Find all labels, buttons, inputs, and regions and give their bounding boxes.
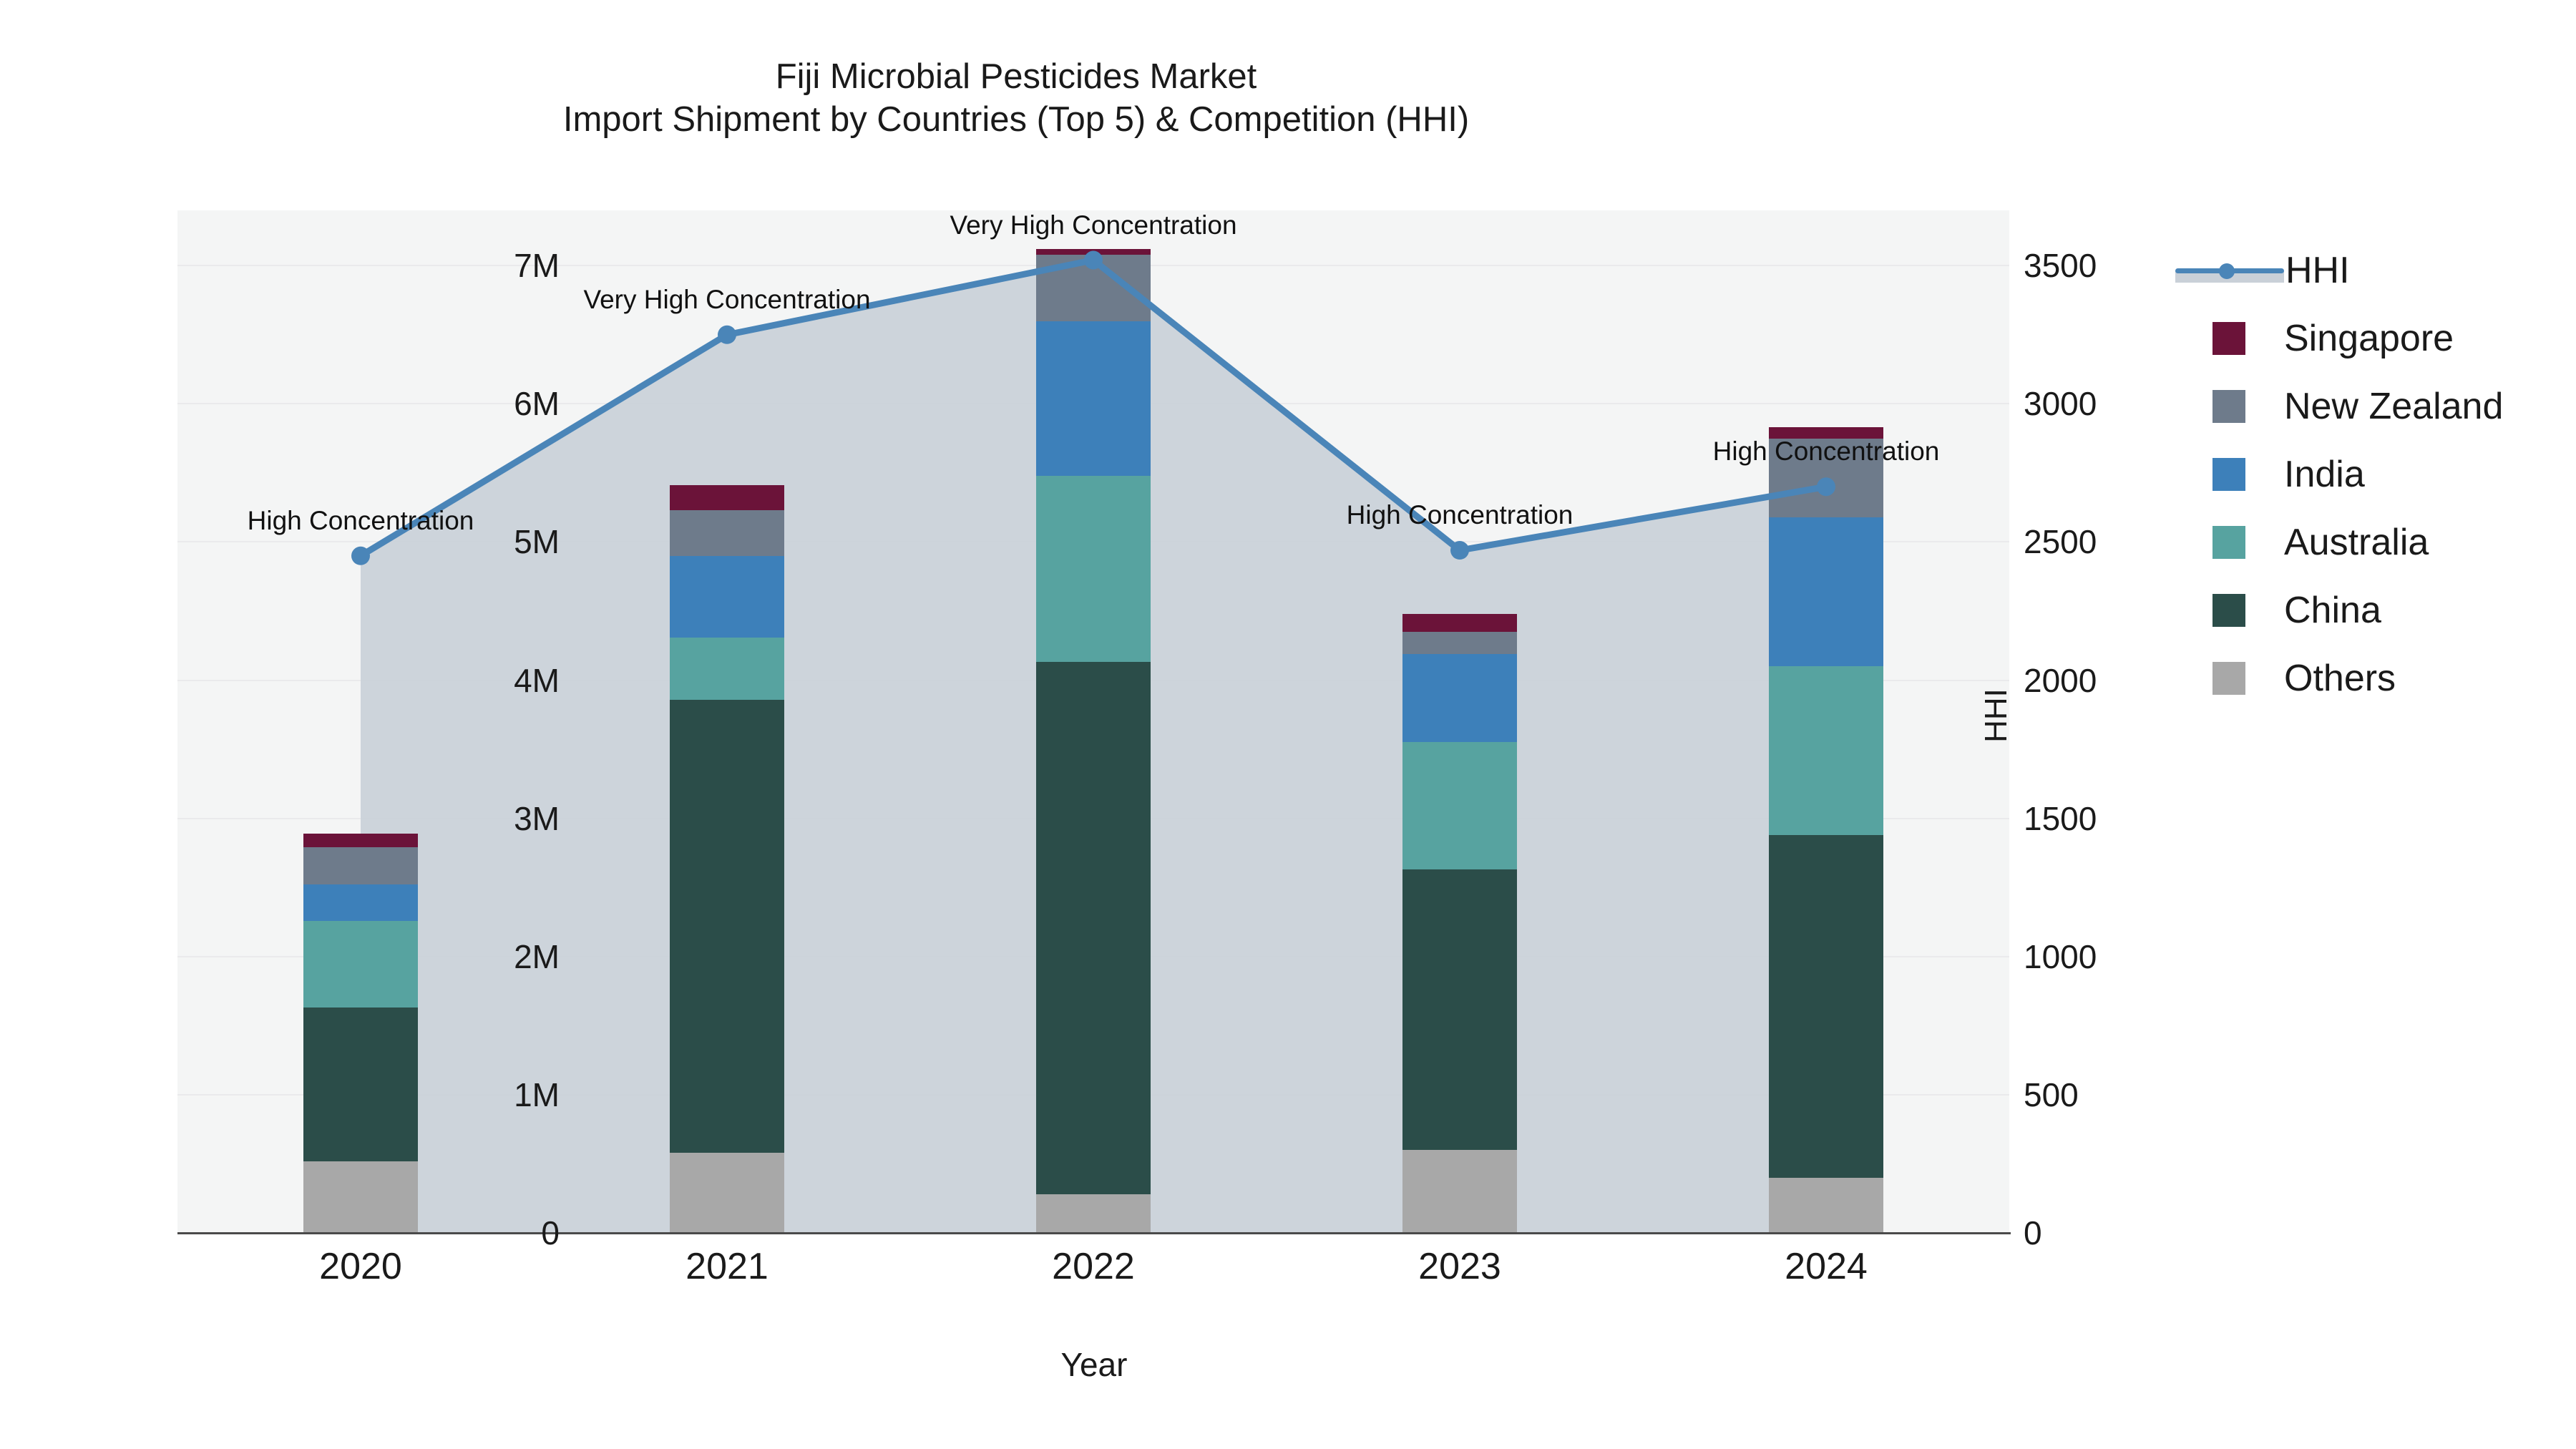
legend-item-india[interactable]: India (2175, 440, 2565, 508)
concentration-annotation: High Concentration (1713, 436, 1940, 467)
x-axis-tick-label: 2021 (620, 1245, 834, 1288)
y-axis-left-title-wrap: TRADE VALUE (US$) (0, 186, 72, 1259)
bar-segment-china[interactable] (1769, 835, 1883, 1178)
x-axis-tick-label: 2020 (253, 1245, 468, 1288)
bar-segment-india[interactable] (670, 556, 784, 638)
bar-segment-australia[interactable] (1036, 476, 1151, 663)
y-axis-left-tick-label: 7M (345, 246, 560, 285)
bar-segment-others[interactable] (1036, 1194, 1151, 1233)
concentration-annotation: Very High Concentration (950, 210, 1236, 240)
concentration-annotation: High Concentration (248, 506, 474, 536)
bar-segment-china[interactable] (1402, 869, 1517, 1150)
bar-segment-singapore[interactable] (670, 485, 784, 510)
legend-swatch-icon (2212, 594, 2245, 627)
chart-title: Fiji Microbial Pesticides Market Import … (0, 56, 2032, 142)
bar-segment-new-zealand[interactable] (303, 847, 418, 884)
hhi-line-legend-icon (2175, 254, 2284, 287)
legend-item-label: Australia (2284, 521, 2429, 564)
legend-item-label: Singapore (2284, 317, 2454, 360)
x-axis-tick-label: 2022 (986, 1245, 1201, 1288)
bar-segment-australia[interactable] (1769, 666, 1883, 835)
y-axis-left-tick-label: 2M (345, 937, 560, 976)
y-axis-left-tick-label: 4M (345, 661, 560, 700)
bar-segment-others[interactable] (1769, 1178, 1883, 1233)
legend-item-label: Others (2284, 657, 2396, 700)
bar-segment-india[interactable] (1769, 517, 1883, 667)
concentration-annotation: High Concentration (1347, 500, 1574, 530)
bar-segment-india[interactable] (1036, 321, 1151, 476)
y-axis-left-tick-label: 1M (345, 1075, 560, 1114)
y-axis-left-tick-label: 3M (345, 799, 560, 838)
legend-swatch-icon (2212, 322, 2245, 355)
bar-segment-china[interactable] (670, 700, 784, 1153)
bar-group[interactable] (303, 834, 418, 1233)
bar-segment-others[interactable] (670, 1153, 784, 1233)
bar-group[interactable] (670, 485, 784, 1233)
legend-swatch-icon (2212, 390, 2245, 423)
legend-swatch-icon (2212, 662, 2245, 695)
bar-group[interactable] (1402, 614, 1517, 1233)
legend-item-china[interactable]: China (2175, 576, 2565, 644)
bar-segment-india[interactable] (1402, 654, 1517, 743)
y-axis-right-title: HHI (1975, 501, 2018, 930)
chart-title-line2: Import Shipment by Countries (Top 5) & C… (0, 99, 2032, 142)
chart-legend: HHISingaporeNew ZealandIndiaAustraliaChi… (2175, 236, 2565, 712)
y-axis-right-tick-label: 1000 (2024, 937, 2238, 976)
legend-item-hhi[interactable]: HHI (2175, 236, 2565, 304)
y-axis-right-tick-label: 500 (2024, 1075, 2238, 1114)
legend-swatch-icon (2212, 458, 2245, 491)
bar-segment-singapore[interactable] (1402, 614, 1517, 632)
legend-item-others[interactable]: Others (2175, 644, 2565, 712)
bar-segment-australia[interactable] (670, 638, 784, 700)
x-axis-tick-label: 2024 (1719, 1245, 1933, 1288)
concentration-annotation: Very High Concentration (583, 285, 870, 315)
legend-swatch-icon (2212, 526, 2245, 559)
legend-item-label: India (2284, 453, 2365, 496)
bar-segment-new-zealand[interactable] (670, 510, 784, 556)
bar-group[interactable] (1769, 427, 1883, 1233)
y-axis-left-tick-label: 6M (345, 384, 560, 423)
x-axis-title: Year (177, 1345, 2011, 1384)
x-axis-tick-label: 2023 (1352, 1245, 1567, 1288)
legend-item-label: China (2284, 589, 2381, 632)
legend-item-australia[interactable]: Australia (2175, 508, 2565, 576)
legend-item-new-zealand[interactable]: New Zealand (2175, 372, 2565, 440)
bar-segment-australia[interactable] (1402, 742, 1517, 869)
bar-segment-singapore[interactable] (1036, 249, 1151, 255)
y-axis-right-tick-label: 0 (2024, 1214, 2238, 1252)
bar-segment-others[interactable] (1402, 1150, 1517, 1233)
bar-group[interactable] (1036, 249, 1151, 1233)
legend-item-singapore[interactable]: Singapore (2175, 304, 2565, 372)
chart-title-line1: Fiji Microbial Pesticides Market (0, 56, 2032, 99)
chart-figure: Fiji Microbial Pesticides Market Import … (0, 0, 2576, 1449)
bar-segment-new-zealand[interactable] (1036, 255, 1151, 321)
bar-segment-china[interactable] (1036, 662, 1151, 1194)
bar-segment-india[interactable] (303, 884, 418, 920)
bar-segment-new-zealand[interactable] (1402, 632, 1517, 654)
legend-item-label: New Zealand (2284, 385, 2503, 428)
legend-item-label: HHI (2285, 249, 2350, 292)
